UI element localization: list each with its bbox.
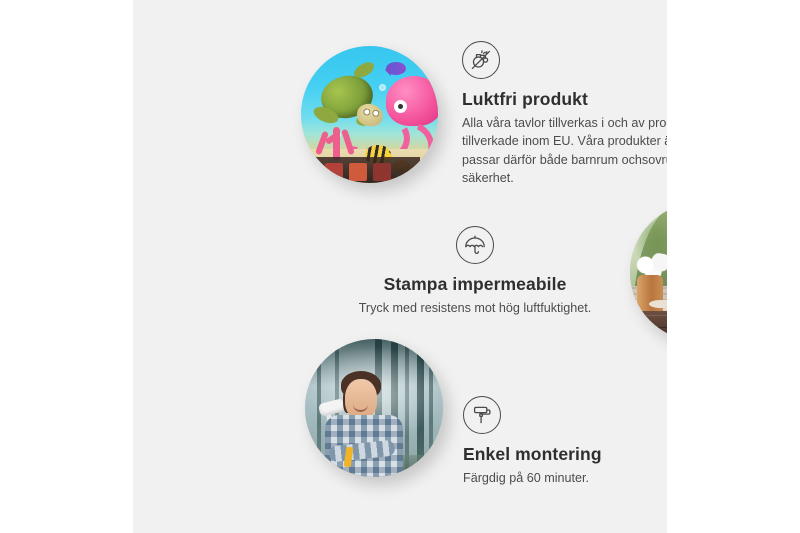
woman-head xyxy=(345,379,377,419)
coral-icon xyxy=(315,121,361,161)
paint-roller-icon xyxy=(463,396,501,434)
wooden-vanity-cabinet xyxy=(630,311,667,341)
feature-description: Färgdig på 60 minuter. xyxy=(463,469,667,487)
octopus-eye xyxy=(394,100,407,113)
feature-block-waterproof-print: Stampa impermeabile Tryck med resistens … xyxy=(336,226,614,317)
infographic-panel: Luktfri produkt Alla våra tavlor tillver… xyxy=(133,0,667,533)
drawer-handle xyxy=(666,337,667,341)
bathroom-vanity-circle-image xyxy=(630,203,667,341)
feature-title: Luktfri produkt xyxy=(462,89,667,110)
infographic-screen: Luktfri produkt Alla våra tavlor tillver… xyxy=(0,0,800,533)
feature-description: Alla våra tavlor tillverkas i och av pro… xyxy=(462,114,667,187)
underwater-cartoon-circle-image xyxy=(301,46,438,183)
underwater-scene xyxy=(301,46,438,183)
bubble-icon xyxy=(379,84,386,91)
cabinet-drawer xyxy=(641,315,667,327)
feature-title: Enkel montering xyxy=(463,444,667,465)
bathroom-scene xyxy=(630,203,667,341)
feature-description: Tryck med resistens mot hög luftfuktighe… xyxy=(336,299,614,317)
blue-fish-icon xyxy=(386,62,406,75)
woman-painter-forest-circle-image xyxy=(305,339,443,477)
soap-dish xyxy=(649,300,667,308)
feature-block-easy-assembly: Enkel montering Färgdig på 60 minuter. xyxy=(463,396,667,487)
feature-block-odor-free: Luktfri produkt Alla våra tavlor tillver… xyxy=(462,41,667,187)
umbrella-icon xyxy=(456,226,494,264)
feature-title: Stampa impermeabile xyxy=(336,274,614,295)
forest-mural-scene xyxy=(305,339,443,477)
no-odor-spray-bottle-icon xyxy=(462,41,500,79)
framed-artwork-strip xyxy=(307,157,420,183)
